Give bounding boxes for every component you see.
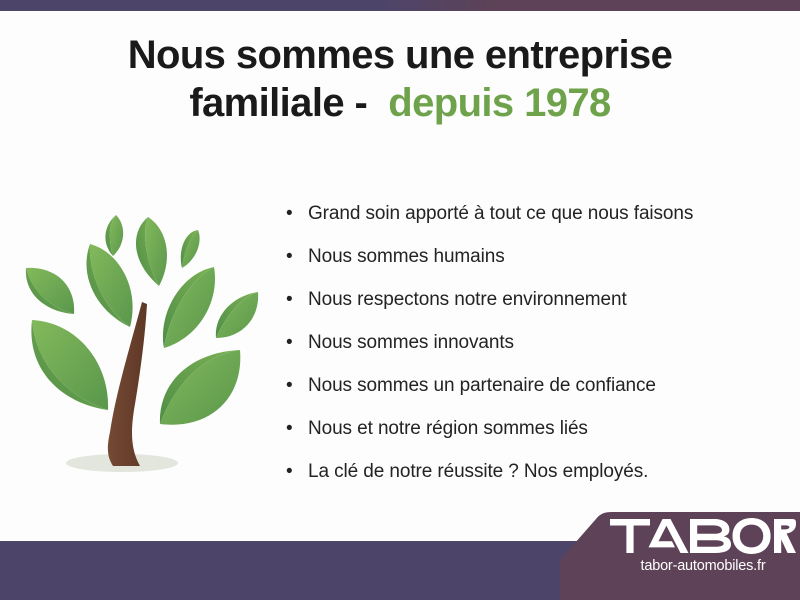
bullet-marker-icon: • bbox=[286, 278, 308, 321]
tree-illustration bbox=[18, 182, 268, 492]
list-item-label: Nous et notre région sommes liés bbox=[308, 407, 588, 450]
list-item-label: Nous sommes humains bbox=[308, 235, 505, 278]
list-item-label: Nous sommes un partenaire de confiance bbox=[308, 364, 656, 407]
tree-leaf bbox=[26, 268, 74, 314]
tree-leaf bbox=[136, 217, 167, 286]
tree-leaf bbox=[181, 230, 200, 268]
list-item: • La clé de notre réussite ? Nos employé… bbox=[286, 450, 766, 493]
brand-tagline: tabor-automobiles.fr bbox=[606, 558, 800, 574]
list-item: • Nous respectons notre environnement bbox=[286, 278, 766, 321]
top-accent-bar bbox=[0, 0, 800, 11]
title-line-2: familiale - depuis 1978 bbox=[0, 82, 800, 124]
page-title: Nous sommes une entreprise familiale - d… bbox=[0, 34, 800, 125]
bullet-marker-icon: • bbox=[286, 407, 308, 450]
list-item-label: Nous sommes innovants bbox=[308, 321, 514, 364]
list-item: • Nous sommes innovants bbox=[286, 321, 766, 364]
title-accent-text: depuis 1978 bbox=[388, 81, 610, 125]
tabor-wordmark-icon bbox=[610, 517, 796, 555]
list-item: • Nous sommes humains bbox=[286, 235, 766, 278]
tree-leaf bbox=[163, 267, 215, 348]
bullet-marker-icon: • bbox=[286, 235, 308, 278]
list-item-label: Nous respectons notre environnement bbox=[308, 278, 627, 321]
tree-leaf bbox=[216, 292, 258, 338]
list-item: • Nous et notre région sommes liés bbox=[286, 407, 766, 450]
list-item-label: Grand soin apporté à tout ce que nous fa… bbox=[308, 192, 693, 235]
bullet-marker-icon: • bbox=[286, 450, 308, 493]
title-line-1: Nous sommes une entreprise bbox=[0, 34, 800, 76]
value-bullet-list: • Grand soin apporté à tout ce que nous … bbox=[286, 192, 766, 493]
tree-leaf bbox=[105, 215, 123, 256]
slide-canvas: Nous sommes une entreprise familiale - d… bbox=[0, 0, 800, 600]
list-item: • Nous sommes un partenaire de confiance bbox=[286, 364, 766, 407]
bullet-marker-icon: • bbox=[286, 321, 308, 364]
list-item-label: La clé de notre réussite ? Nos employés. bbox=[308, 450, 648, 493]
bullet-marker-icon: • bbox=[286, 192, 308, 235]
tree-leaf bbox=[160, 350, 240, 425]
brand-logo[interactable]: tabor-automobiles.fr bbox=[606, 512, 800, 600]
bullet-marker-icon: • bbox=[286, 364, 308, 407]
title-plain-text: familiale - bbox=[189, 81, 367, 125]
tree-leaf bbox=[31, 320, 108, 410]
list-item: • Grand soin apporté à tout ce que nous … bbox=[286, 192, 766, 235]
tree-trunk bbox=[108, 302, 147, 466]
tree-leaf bbox=[86, 244, 132, 327]
